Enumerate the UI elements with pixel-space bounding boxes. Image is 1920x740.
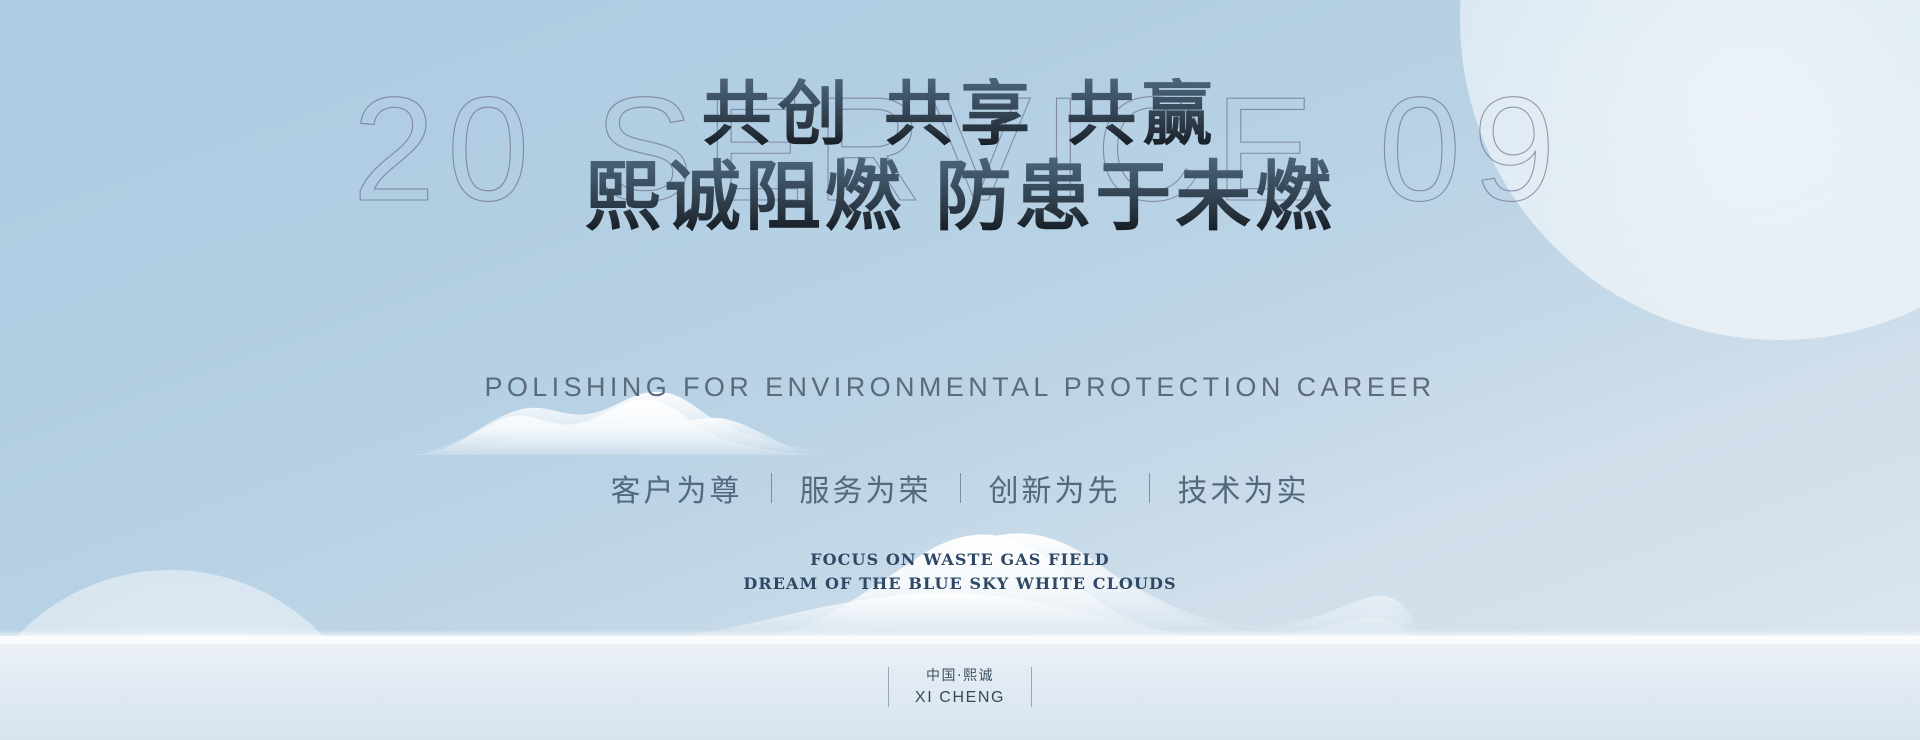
signature-english: XI CHENG xyxy=(915,687,1005,709)
value-item-1: 客户为尊 xyxy=(583,466,771,510)
headline-block: 共创 共享 共赢 熙诚阻燃 防患于未燃 xyxy=(0,78,1920,236)
couplet-line-2: DREAM OF THE BLUE SKY WHITE CLOUDS xyxy=(0,572,1920,596)
english-subtitle: POLISHING FOR ENVIRONMENTAL PROTECTION C… xyxy=(0,372,1920,403)
value-separator-3 xyxy=(1149,473,1150,503)
headline-line-1: 共创 共享 共赢 xyxy=(0,78,1920,151)
value-item-4: 技术为实 xyxy=(1150,466,1338,510)
couplet-block: FOCUS ON WASTE GAS FIELD DREAM OF THE BL… xyxy=(0,548,1920,597)
signature-text: 中国·熙诚 XI CHENG xyxy=(915,666,1005,709)
signature-chinese: 中国·熙诚 xyxy=(915,666,1005,687)
value-separator-1 xyxy=(771,473,772,503)
value-item-3: 创新为先 xyxy=(961,466,1149,510)
signature-bar-left xyxy=(888,667,889,707)
signature-block: 中国·熙诚 XI CHENG xyxy=(0,666,1920,709)
banner-root: 20 SERVICE 09 xyxy=(0,0,1920,740)
headline-line-2: 熙诚阻燃 防患于未燃 xyxy=(0,157,1920,236)
value-separator-2 xyxy=(960,473,961,503)
value-item-2: 服务为荣 xyxy=(772,466,960,510)
signature-bar-right xyxy=(1031,667,1032,707)
values-row: 客户为尊 服务为荣 创新为先 技术为实 xyxy=(0,466,1920,510)
couplet-line-1: FOCUS ON WASTE GAS FIELD xyxy=(0,548,1920,572)
ground-horizon-glow xyxy=(0,630,1920,644)
